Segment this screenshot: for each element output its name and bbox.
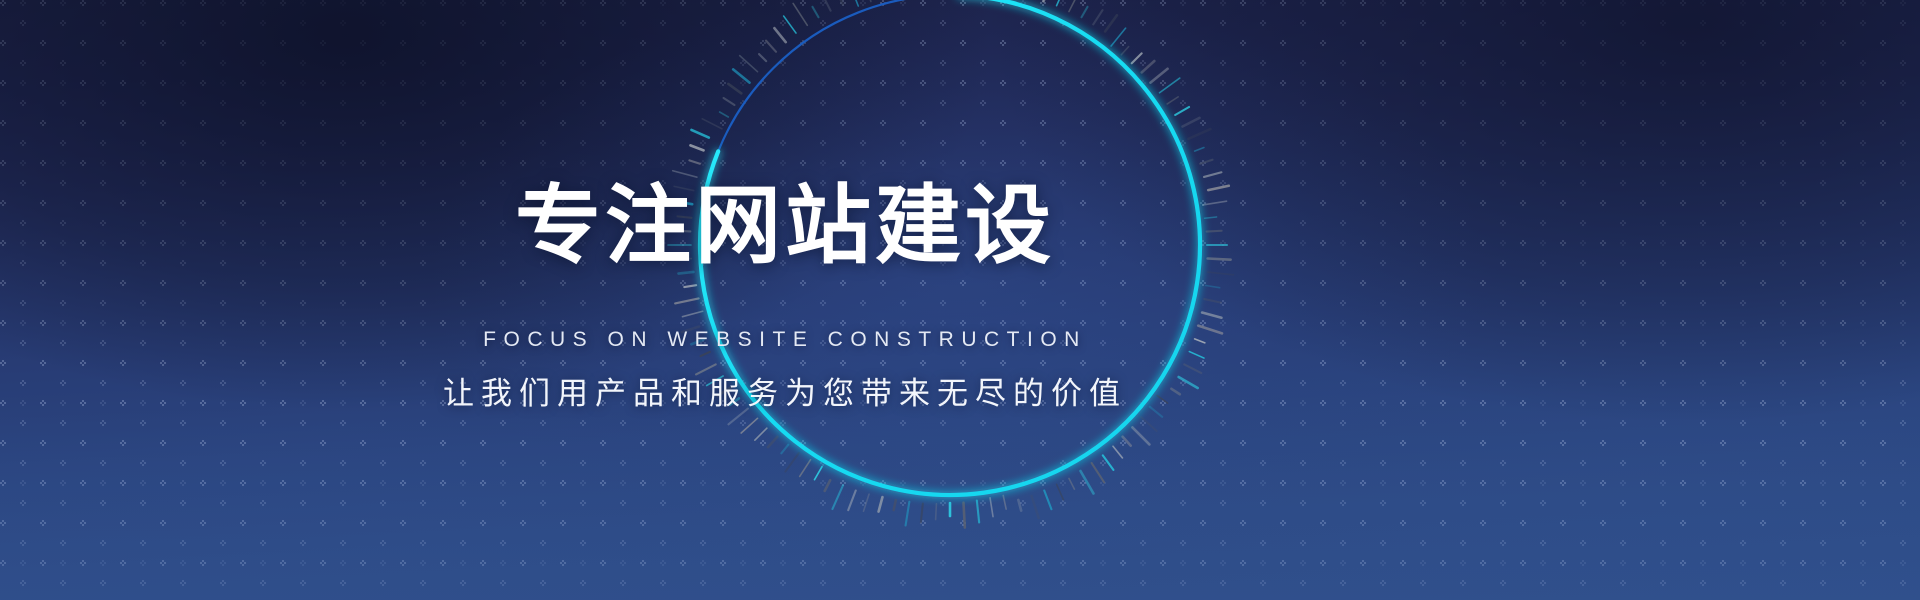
ring-tick: [1093, 10, 1102, 24]
ring-tick: [1157, 395, 1168, 403]
ring-tick: [1103, 455, 1114, 470]
ring-tick: [728, 84, 741, 93]
ring-tick: [832, 485, 843, 509]
vignette-top-right: [0, 0, 1920, 600]
ring-tick: [1069, 478, 1074, 489]
ring-tick: [1141, 417, 1157, 431]
subtitle-chinese: 让我们用产品和服务为您带来无尽的价值: [0, 373, 1745, 415]
ring-tick: [691, 130, 708, 138]
ring-tick: [1200, 160, 1212, 164]
ring-tick: [730, 398, 739, 404]
ring-tick: [815, 467, 823, 480]
ring-tick: [1142, 61, 1155, 72]
ring-tick: [1179, 377, 1198, 388]
ring-tick: [785, 453, 799, 472]
ring-tick: [1018, 500, 1021, 511]
ring-tick: [1195, 148, 1204, 152]
ring-tick: [1132, 53, 1142, 63]
ring-tick: [1171, 389, 1179, 394]
ring-tick: [1175, 107, 1189, 115]
ring-tick: [1123, 437, 1131, 446]
ring-tick: [1111, 28, 1125, 46]
ring-tick: [673, 171, 697, 177]
ring-tick: [879, 497, 883, 511]
ring-tick: [1150, 407, 1162, 417]
ring-tick: [664, 230, 690, 231]
ring-tick: [691, 340, 703, 345]
ring-tick: [848, 491, 856, 511]
ring-tick: [867, 0, 870, 2]
ring-tick: [682, 311, 702, 316]
ring-tick: [1151, 69, 1168, 83]
ring-tick: [1203, 201, 1227, 205]
ring-tick: [733, 69, 749, 82]
ring-tick: [690, 145, 703, 150]
ring-tick: [977, 501, 979, 523]
ring-tick: [1188, 129, 1210, 139]
ring-tick: [1183, 118, 1200, 127]
ring-tick: [674, 186, 694, 190]
ring-tick: [1113, 446, 1122, 458]
ring-tick: [755, 428, 767, 440]
ring-tick: [863, 494, 869, 511]
ring-tick: [684, 285, 696, 287]
ring-tick: [1208, 272, 1234, 275]
ring-tick: [774, 28, 785, 42]
ring-tick: [759, 54, 766, 61]
ring-tick: [1160, 78, 1180, 93]
ring-tick: [1121, 47, 1128, 55]
ring-tick: [1082, 7, 1088, 17]
ring-tick: [936, 504, 937, 520]
ring-tick: [1081, 471, 1094, 494]
ring-tick: [1205, 217, 1217, 218]
ring-tick: [800, 460, 811, 477]
ring-tick: [1069, 0, 1081, 12]
ring-tick: [1184, 364, 1201, 373]
subtitle-english: FOCUS ON WEBSITE CONSTRUCTION: [0, 326, 1745, 354]
ring-tick: [1189, 352, 1204, 359]
ring-cyan-arc: [700, 0, 1200, 495]
ring-tick: [1207, 231, 1222, 232]
ring-tick: [718, 387, 731, 396]
ring-tick: [675, 202, 692, 205]
ring-tick: [1204, 299, 1221, 303]
ring-tick: [964, 503, 965, 528]
page-title: 专注网站建设: [0, 176, 1745, 276]
ring-base-circle: [700, 0, 1200, 495]
ring-tick: [1198, 326, 1222, 334]
tech-ring-graphic: [0, 0, 1920, 600]
ring-tick: [1092, 463, 1105, 482]
ring-tick: [689, 160, 699, 163]
ring-tick: [921, 504, 923, 523]
ring-tick: [1044, 491, 1051, 510]
ring-tick: [825, 480, 830, 491]
ring-tick: [675, 298, 698, 303]
ring-tick: [1208, 259, 1231, 260]
ring-tick: [784, 16, 796, 33]
ring-tick: [1208, 186, 1229, 190]
ring-tick: [1204, 172, 1221, 177]
ring-tick: [724, 98, 735, 105]
ring-tick: [1044, 0, 1050, 1]
ring-tick: [702, 119, 722, 129]
dot-grid-pattern-primary: [0, 0, 1920, 600]
hero-banner: 专注网站建设 FOCUS ON WEBSITE CONSTRUCTION 让我们…: [0, 0, 1920, 600]
ring-tick: [813, 7, 819, 17]
ring-tick: [1195, 339, 1205, 343]
ring-tick: [850, 0, 858, 6]
ring-tick: [894, 500, 896, 510]
ring-tick: [1167, 97, 1178, 104]
ring-tick: [781, 445, 788, 454]
ring-tick: [766, 41, 776, 52]
ring-tick: [1003, 495, 1006, 509]
ring-tick: [1057, 484, 1064, 500]
ring-tick: [823, 0, 831, 11]
ring-tick: [990, 498, 993, 517]
ring-tick: [673, 259, 691, 260]
center-glow: [0, 0, 1920, 600]
ring-tick: [729, 409, 748, 425]
ring-tick: [701, 352, 710, 356]
ring-tick: [720, 112, 729, 117]
dot-grid-pattern-secondary: [0, 0, 1920, 600]
ring-tick: [741, 418, 757, 433]
ring-tick: [1206, 286, 1220, 288]
ring-tick: [1032, 496, 1039, 518]
ring-tick: [707, 376, 723, 386]
ring-tick: [678, 216, 692, 217]
ring-tick: [1057, 0, 1066, 6]
ring-tick: [1132, 427, 1149, 444]
ring-tick-marks: [664, 0, 1233, 528]
ring-tick: [834, 0, 842, 4]
ring-tick: [679, 272, 694, 274]
ring-tick: [793, 3, 807, 25]
ring-tick: [768, 437, 777, 447]
ring-tick: [740, 56, 758, 72]
dot-grid-pattern-tertiary: [0, 0, 1920, 600]
ring-tick: [1202, 313, 1221, 318]
ring-tick: [682, 327, 699, 333]
ring-tick: [696, 364, 716, 374]
bottom-glow: [0, 0, 1920, 600]
vignette-top-left: [0, 0, 1920, 600]
ring-tick: [906, 502, 910, 526]
ring-tick: [1105, 15, 1117, 31]
